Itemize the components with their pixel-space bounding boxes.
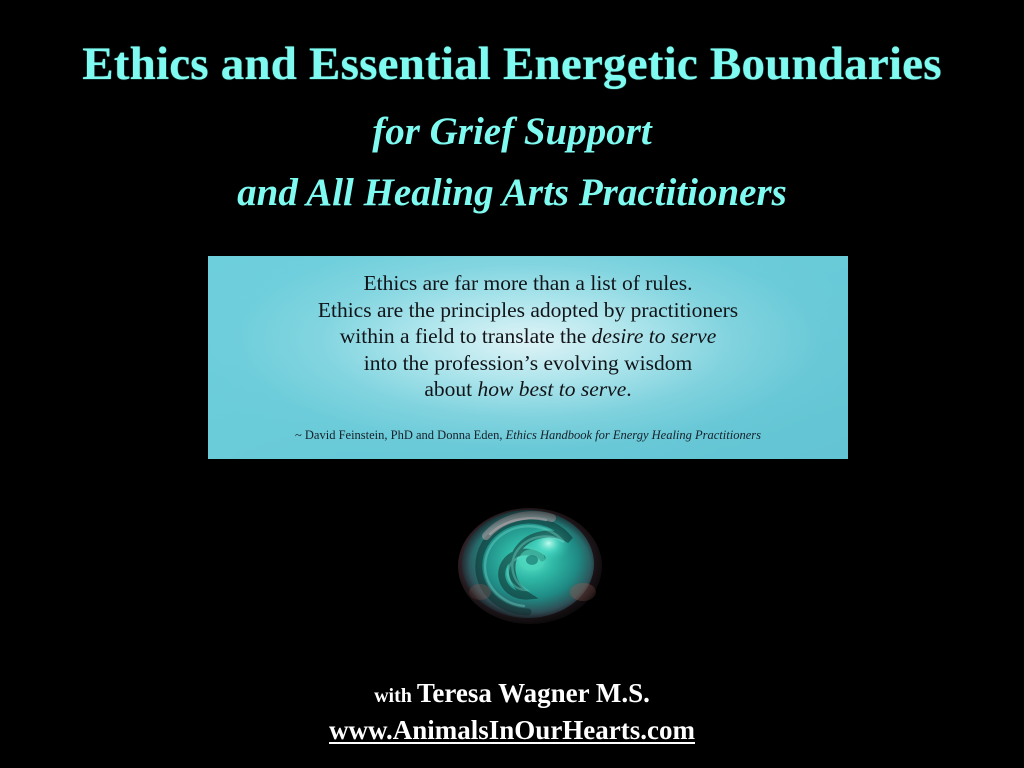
title-block: Ethics and Essential Energetic Boundarie… bbox=[0, 40, 1024, 214]
quote-line-5: about how best to serve. bbox=[208, 376, 848, 403]
quote-attribution: ~ David Feinstein, PhD and Donna Eden, E… bbox=[208, 428, 848, 443]
quote-card: Ethics are far more than a list of rules… bbox=[208, 256, 848, 459]
quote-line-5-period: . bbox=[626, 377, 631, 401]
attribution-authors: ~ David Feinstein, PhD and Donna Eden, bbox=[295, 428, 506, 442]
presentation-slide: Ethics and Essential Energetic Boundarie… bbox=[0, 0, 1024, 768]
footer: with Teresa Wagner M.S. www.AnimalsInOur… bbox=[0, 678, 1024, 746]
website-link[interactable]: www.AnimalsInOurHearts.com bbox=[329, 714, 695, 746]
subtitle-line-2: and All Healing Arts Practitioners bbox=[0, 173, 1024, 214]
presenter-with-label: with bbox=[374, 685, 417, 707]
quote-line-3: within a field to translate the desire t… bbox=[208, 323, 848, 350]
page-title: Ethics and Essential Energetic Boundarie… bbox=[0, 40, 1024, 89]
quote-line-3-emphasis: desire to serve bbox=[592, 324, 717, 348]
shell-image bbox=[446, 500, 614, 630]
quote-line-2: Ethics are the principles adopted by pra… bbox=[208, 297, 848, 324]
quote-line-3-text: within a field to translate the bbox=[340, 324, 592, 348]
presenter-line: with Teresa Wagner M.S. bbox=[0, 678, 1024, 711]
spiral-shell-icon bbox=[446, 500, 614, 630]
quote-text: Ethics are far more than a list of rules… bbox=[208, 270, 848, 403]
quote-line-5-text: about bbox=[424, 377, 477, 401]
subtitle-line-1: for Grief Support bbox=[0, 112, 1024, 153]
quote-line-1: Ethics are far more than a list of rules… bbox=[208, 270, 848, 297]
presenter-name: Teresa Wagner M.S. bbox=[417, 678, 650, 708]
quote-line-4: into the profession’s evolving wisdom bbox=[208, 350, 848, 377]
quote-line-5-emphasis: how best to serve bbox=[478, 377, 627, 401]
attribution-book-title: Ethics Handbook for Energy Healing Pract… bbox=[506, 428, 761, 442]
